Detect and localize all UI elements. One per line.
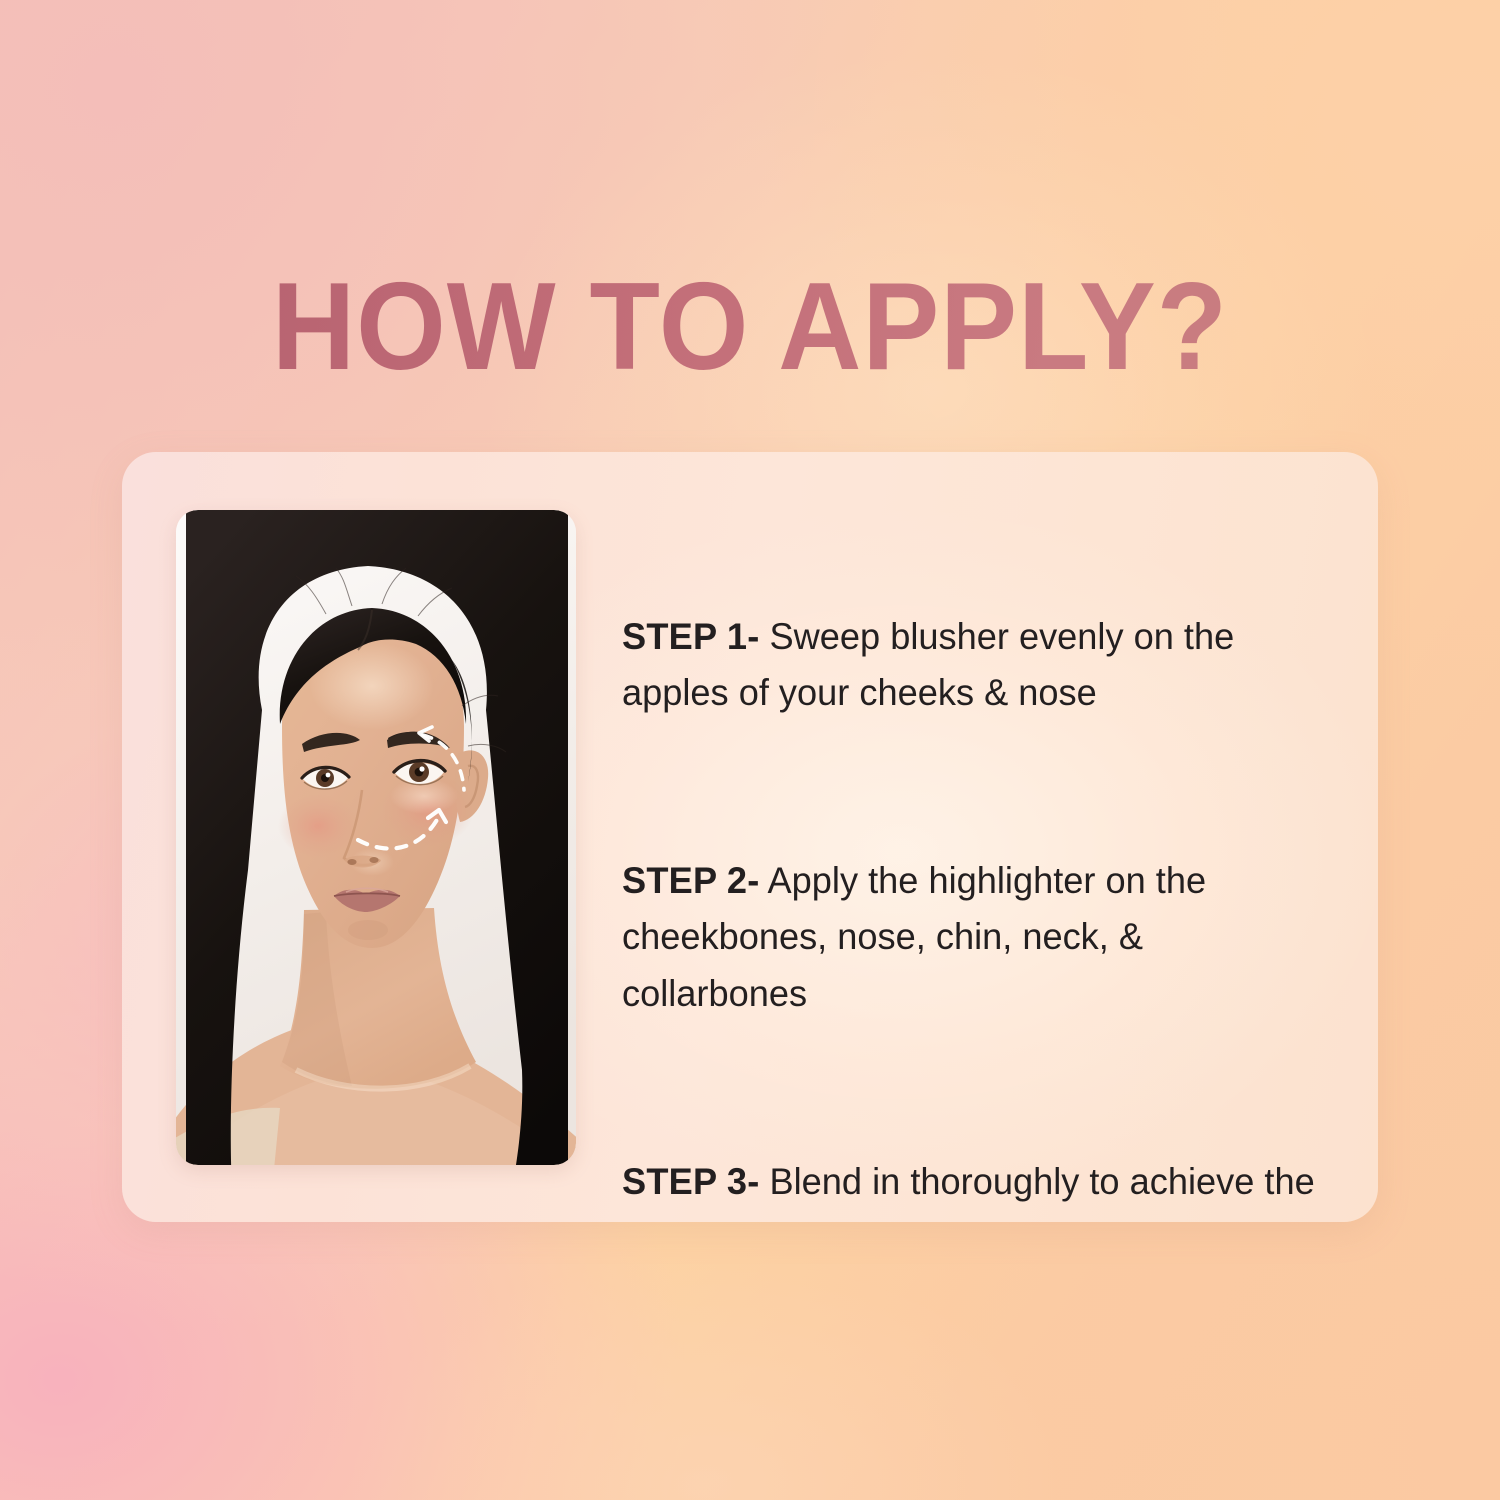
how-to-apply-poster: HOW TO APPLY? (0, 0, 1500, 1500)
step-1-label: STEP 1- (622, 615, 759, 657)
steps-list: STEP 1- Sweep blusher evenly on the appl… (622, 570, 1362, 1222)
instruction-card: STEP 1- Sweep blusher evenly on the appl… (122, 452, 1378, 1222)
model-face-photo (176, 510, 576, 1165)
page-title: HOW TO APPLY? (53, 265, 1448, 389)
step-2-label: STEP 2- (622, 859, 759, 901)
step-item-3: STEP 3- Blend in thoroughly to achieve t… (622, 1153, 1336, 1222)
step-item-2: STEP 2- Apply the highlighter on the che… (622, 852, 1336, 1021)
step-item-1: STEP 1- Sweep blusher evenly on the appl… (622, 608, 1336, 721)
step-3-label: STEP 3- (622, 1160, 759, 1202)
